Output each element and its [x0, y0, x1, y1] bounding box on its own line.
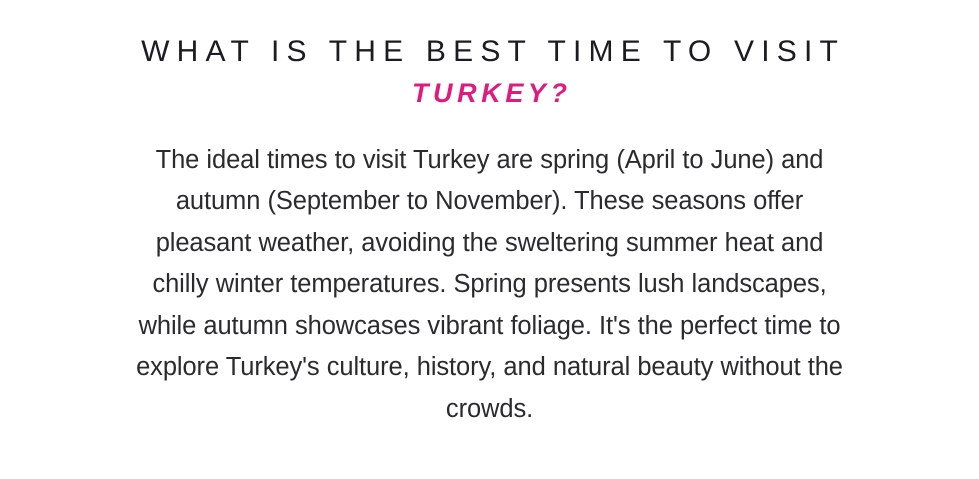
- body-paragraph: The ideal times to visit Turkey are spri…: [125, 140, 855, 431]
- body-text-container: The ideal times to visit Turkey are spri…: [125, 140, 855, 431]
- page-title: WHAT IS THE BEST TIME TO VISIT TURKEY?: [0, 33, 979, 110]
- title-highlight-line: TURKEY?: [0, 77, 979, 109]
- card-content: WHAT IS THE BEST TIME TO VISIT TURKEY? T…: [0, 0, 979, 479]
- title-primary-line: WHAT IS THE BEST TIME TO VISIT: [0, 33, 979, 71]
- faq-card: WHAT IS THE BEST TIME TO VISIT TURKEY? T…: [0, 0, 979, 479]
